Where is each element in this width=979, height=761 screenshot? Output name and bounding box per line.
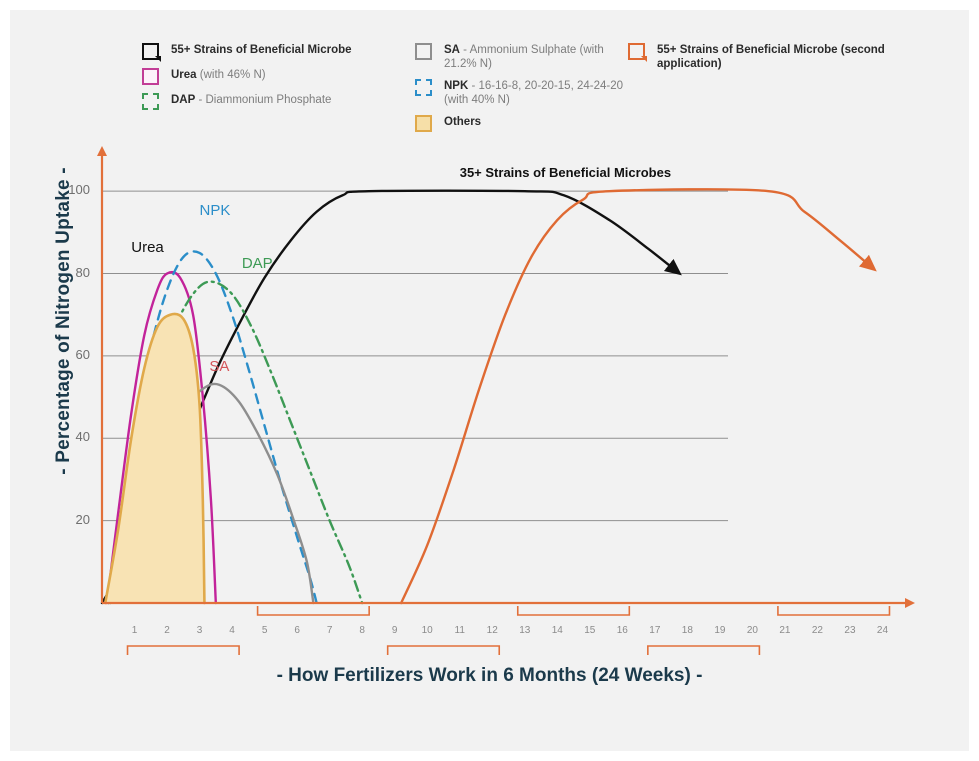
x-tick-label: 18 (677, 625, 697, 636)
data-curves (102, 189, 869, 603)
y-axis-arrow-icon (97, 146, 107, 156)
x-tick-label: 3 (190, 625, 210, 636)
plot-area: - Percentage of Nitrogen Uptake - 204060… (10, 10, 969, 751)
x-tick-label: 24 (872, 625, 892, 636)
x-tick-label: 10 (417, 625, 437, 636)
x-tick-label: 5 (255, 625, 275, 636)
x-tick-label: 13 (515, 625, 535, 636)
x-tick-label: 23 (840, 625, 860, 636)
x-tick-label: 11 (450, 625, 470, 636)
x-tick-label: 1 (125, 625, 145, 636)
x-tick-label: 19 (710, 625, 730, 636)
x-tick-label: 9 (385, 625, 405, 636)
curve-label: Urea (131, 239, 164, 256)
x-axis-arrow-icon (905, 598, 915, 608)
x-tick-label: 7 (320, 625, 340, 636)
x-tick-label: 12 (482, 625, 502, 636)
x-tick-label: 17 (645, 625, 665, 636)
x-tick-label: 14 (547, 625, 567, 636)
chart-svg (10, 10, 969, 751)
curve-55-strains-of-beneficial-microbe-second-application (401, 189, 869, 603)
x-bracket (258, 606, 370, 615)
curve-label: NPK (200, 202, 231, 219)
x-tick-label: 6 (287, 625, 307, 636)
chart-title: - How Fertilizers Work in 6 Months (24 W… (10, 665, 969, 687)
x-tick-label: 22 (807, 625, 827, 636)
chart-canvas: 55+ Strains of Beneficial MicrobeUrea (w… (10, 10, 969, 751)
x-bracket (128, 646, 240, 655)
x-tick-label: 15 (580, 625, 600, 636)
curve-label: SA (209, 358, 229, 375)
curve-label: 35+ Strains of Beneficial Microbes (460, 165, 671, 180)
x-tick-label: 16 (612, 625, 632, 636)
x-tick-label: 4 (222, 625, 242, 636)
x-bracket (388, 646, 500, 655)
x-bracket (518, 606, 630, 615)
x-tick-label: 21 (775, 625, 795, 636)
x-bracket (648, 646, 760, 655)
x-tick-label: 2 (157, 625, 177, 636)
x-bracket (778, 606, 890, 615)
area-fill-others (105, 314, 204, 603)
curve-label: DAP (242, 255, 273, 272)
x-tick-label: 20 (742, 625, 762, 636)
x-tick-label: 8 (352, 625, 372, 636)
